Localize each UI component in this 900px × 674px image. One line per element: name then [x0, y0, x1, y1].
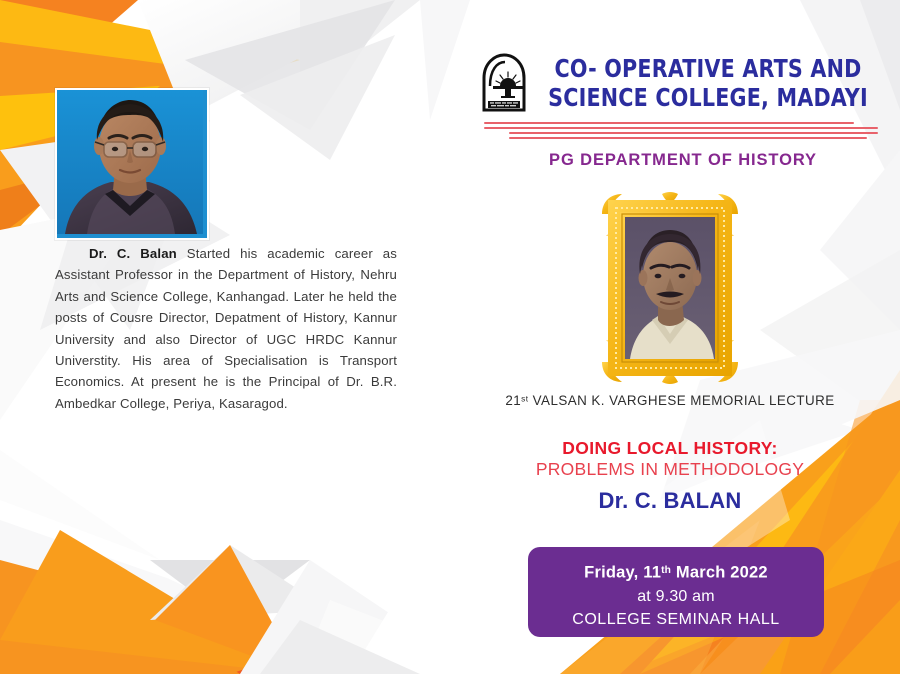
event-time: at 9.30 am: [528, 585, 824, 608]
caption-body: VALSAN K. VARGHESE MEMORIAL LECTURE: [529, 393, 835, 408]
speaker-biography: Dr. C. Balan Started his academic career…: [55, 243, 397, 414]
event-venue: COLLEGE SEMINAR HALL: [528, 608, 824, 631]
divider-line-4: [509, 137, 867, 139]
divider-line-2: [484, 127, 878, 129]
memorial-lecture-caption: 21st VALSAN K. VARGHESE MEMORIAL LECTURE: [440, 393, 900, 408]
caption-ordinal-number: 21: [505, 393, 521, 408]
event-poster: Dr. C. Balan Started his academic career…: [0, 0, 900, 674]
event-date-prefix: Friday, 11: [584, 564, 661, 582]
divider-line-1: [484, 122, 854, 124]
college-name: CO- OPERATIVE ARTS AND SCIENCE COLLEGE, …: [542, 54, 873, 112]
college-emblem-icon: [478, 52, 530, 114]
lecture-title-line-2: PROBLEMS IN METHODOLOGY: [440, 459, 900, 480]
header-divider-rules: [484, 122, 878, 144]
department-name: PG DEPARTMENT OF HISTORY: [478, 151, 888, 170]
event-date: Friday, 11th March 2022: [528, 559, 824, 585]
bio-lead-name: Dr. C. Balan: [89, 246, 177, 261]
lecture-title-line-1: DOING LOCAL HISTORY:: [440, 438, 900, 459]
event-date-ordinal: th: [661, 565, 671, 576]
speaker-photo: [55, 88, 209, 240]
event-date-suffix: March 2022: [671, 564, 768, 582]
event-details-card: Friday, 11th March 2022 at 9.30 am COLLE…: [528, 547, 824, 637]
divider-line-3: [509, 132, 878, 134]
bio-body-text: Started his academic career as Assistant…: [55, 246, 397, 411]
caption-ordinal-suffix: st: [521, 393, 528, 403]
memorial-portrait-frame: [600, 192, 740, 384]
lecture-speaker-name: Dr. C. BALAN: [440, 488, 900, 514]
